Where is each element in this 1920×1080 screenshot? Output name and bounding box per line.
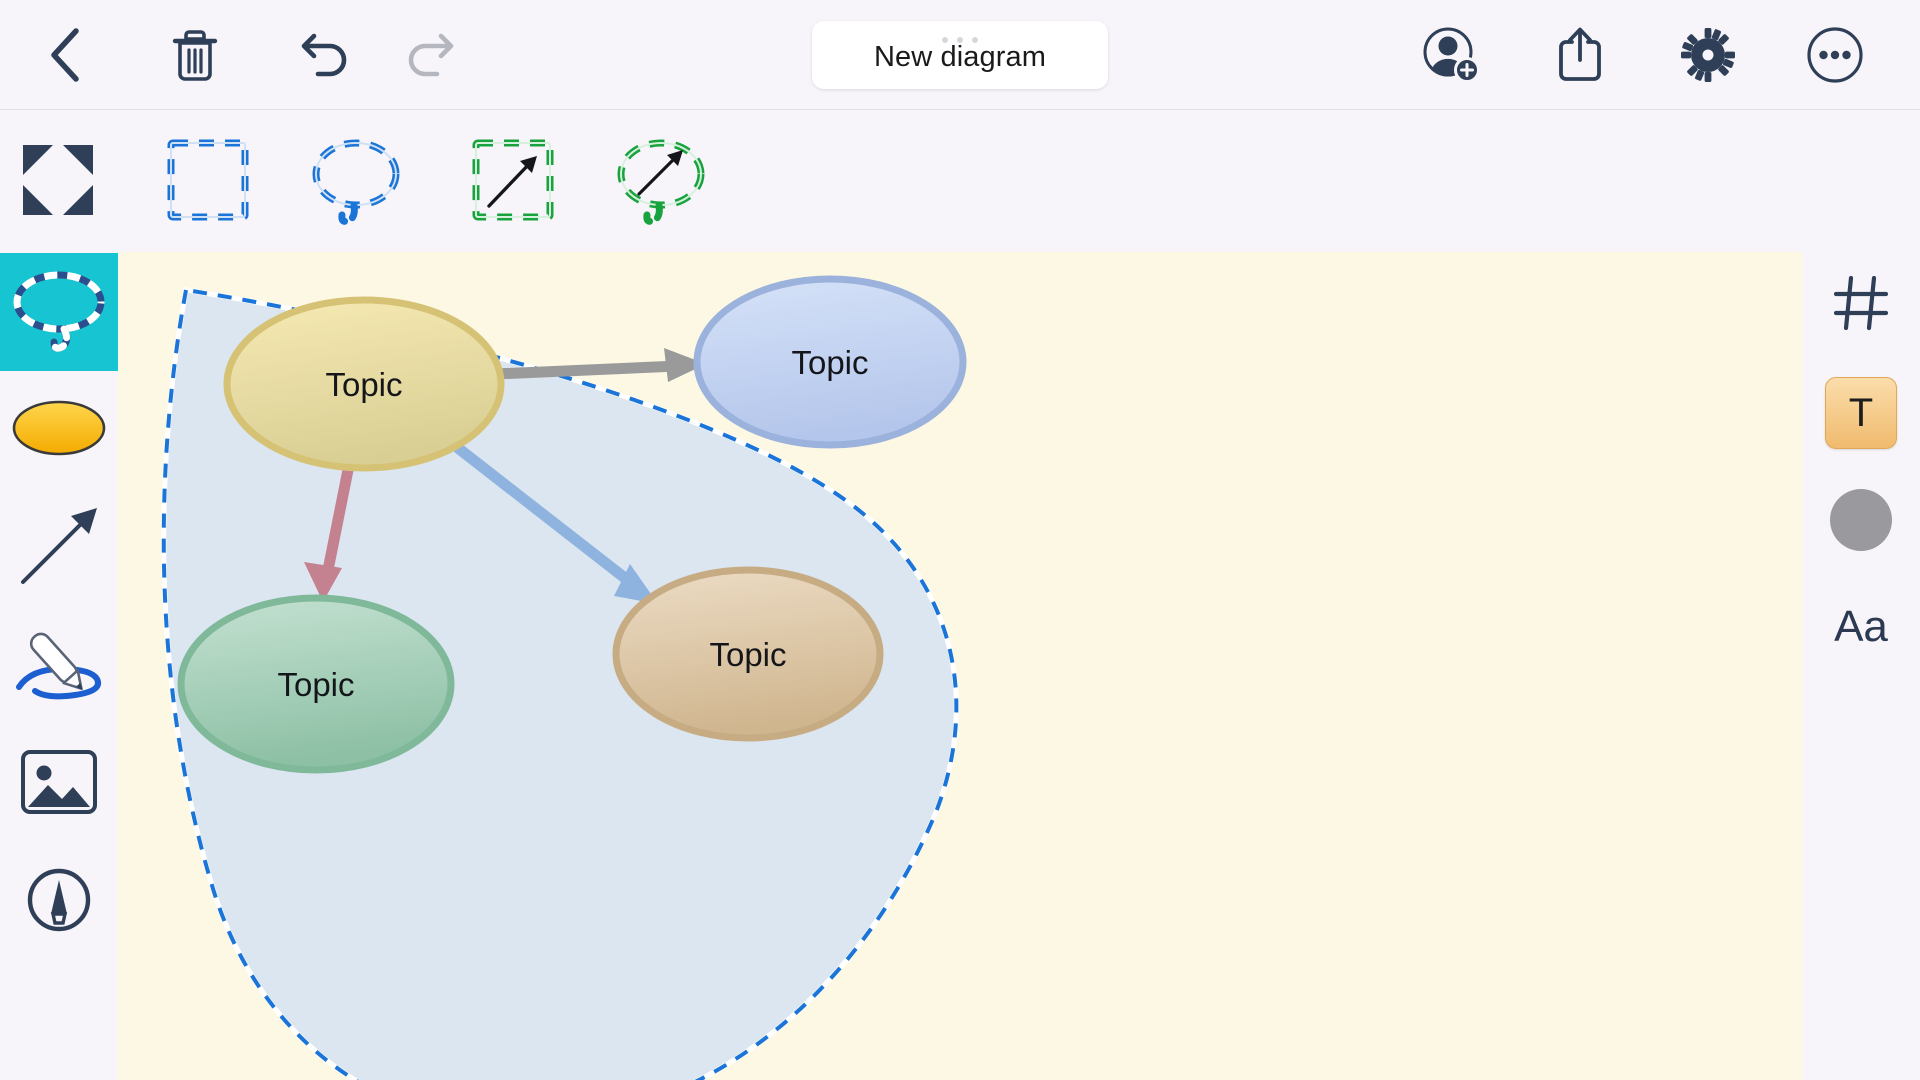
- diagram-node-tan[interactable]: Topic: [616, 570, 880, 738]
- share-upload-icon: [1554, 24, 1606, 86]
- expand-corners-icon: [13, 135, 103, 230]
- pen-icon: [9, 621, 109, 712]
- lasso-select-button[interactable]: [300, 126, 412, 238]
- gear-icon: [1679, 26, 1737, 84]
- chevron-left-icon: [43, 25, 87, 85]
- text-icon: T: [1849, 393, 1873, 433]
- compass-icon: [26, 867, 92, 938]
- right-property-sidebar: T Aa: [1802, 252, 1920, 680]
- delete-button[interactable]: [145, 0, 245, 110]
- redo-icon: [402, 28, 458, 82]
- node-label: Topic: [709, 636, 786, 673]
- invite-collaborator-button[interactable]: [1396, 0, 1506, 110]
- more-options-button[interactable]: [1785, 0, 1885, 110]
- sidebar-tool-pen[interactable]: [0, 607, 118, 725]
- property-color-button[interactable]: [1802, 466, 1920, 573]
- dashed-rectangle-arrow-icon: [463, 130, 563, 235]
- font-icon: Aa: [1834, 605, 1888, 649]
- diagram-title-text: New diagram: [874, 39, 1046, 72]
- diagram-svg: Topic Topic Topic Topic: [118, 252, 1802, 1080]
- selection-toolbar: [0, 110, 1920, 255]
- dashed-lasso-arrow-icon: [605, 130, 717, 235]
- diagram-canvas[interactable]: Topic Topic Topic Topic: [118, 252, 1802, 1080]
- diagram-node-blue[interactable]: Topic: [697, 279, 963, 445]
- lasso-icon: [7, 262, 111, 363]
- dashed-rectangle-icon: [158, 130, 258, 235]
- grid-icon: [1830, 272, 1892, 339]
- undo-icon: [297, 28, 353, 82]
- undo-button[interactable]: [275, 0, 375, 110]
- image-icon: [20, 749, 98, 820]
- ellipse-icon: [9, 395, 109, 466]
- sidebar-tool-marker[interactable]: [0, 843, 118, 961]
- diagram-node-yellow[interactable]: Topic: [227, 300, 501, 468]
- arrow-icon: [13, 500, 105, 597]
- node-label: Topic: [277, 666, 354, 703]
- select-all-button[interactable]: [2, 126, 114, 238]
- settings-button[interactable]: [1658, 0, 1758, 110]
- diagram-title-field[interactable]: New diagram: [812, 21, 1108, 89]
- property-text-style-button[interactable]: T: [1802, 359, 1920, 466]
- share-export-button[interactable]: [1530, 0, 1630, 110]
- sidebar-tool-shape[interactable]: [0, 371, 118, 489]
- top-header-bar: New diagram: [0, 0, 1920, 110]
- rectangle-move-select-button[interactable]: [457, 126, 569, 238]
- back-button[interactable]: [10, 0, 120, 110]
- node-label: Topic: [791, 344, 868, 381]
- text-style-chip: T: [1825, 377, 1897, 449]
- property-grid-button[interactable]: [1802, 252, 1920, 359]
- title-drag-dots-icon: [942, 37, 978, 43]
- redo-button[interactable]: [380, 0, 480, 110]
- node-label: Topic: [325, 366, 402, 403]
- diagram-node-green[interactable]: Topic: [181, 598, 451, 770]
- color-swatch-icon: [1830, 489, 1892, 551]
- rectangle-select-button[interactable]: [152, 126, 264, 238]
- dashed-lasso-icon: [300, 130, 412, 235]
- property-font-button[interactable]: Aa: [1802, 573, 1920, 680]
- sidebar-tool-image[interactable]: [0, 725, 118, 843]
- lasso-move-select-button[interactable]: [605, 126, 717, 238]
- left-tool-sidebar: [0, 253, 118, 945]
- diagram-editor-app: New diagram: [0, 0, 1920, 1080]
- trash-icon: [170, 26, 220, 84]
- more-dots-circle-icon: [1805, 25, 1865, 85]
- sidebar-tool-lasso[interactable]: [0, 253, 118, 371]
- sidebar-tool-arrow[interactable]: [0, 489, 118, 607]
- add-person-icon: [1420, 24, 1482, 86]
